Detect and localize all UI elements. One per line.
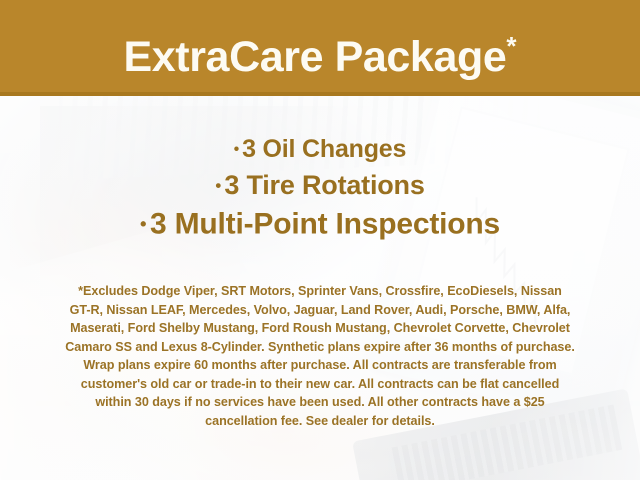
list-item-label: 3 Multi-Point Inspections [150, 207, 500, 240]
list-item: •3 Tire Rotations [0, 167, 640, 204]
disclaimer-line: Maserati, Ford Shelby Mustang, Ford Rous… [0, 319, 640, 338]
disclaimer-text: *Excludes Dodge Viper, SRT Motors, Sprin… [0, 282, 640, 430]
list-item: •3 Multi-Point Inspections [0, 204, 640, 245]
list-item: •3 Oil Changes [0, 132, 640, 167]
disclaimer-line: customer's old car or trade-in to their … [0, 375, 640, 394]
bullet-dot-icon: • [140, 213, 146, 234]
page-title: ExtraCare Package* [0, 0, 640, 92]
disclaimer-line: GT-R, Nissan LEAF, Mercedes, Volvo, Jagu… [0, 301, 640, 320]
page-title-text: ExtraCare Package [124, 33, 507, 81]
disclaimer-line: cancellation fee. See dealer for details… [0, 412, 640, 431]
disclaimer-line: within 30 days if no services have been … [0, 393, 640, 412]
disclaimer-line: *Excludes Dodge Viper, SRT Motors, Sprin… [0, 282, 640, 301]
disclaimer-line: Camaro SS and Lexus 8-Cylinder. Syntheti… [0, 338, 640, 357]
page-title-asterisk: * [506, 31, 516, 61]
disclaimer-line: Wrap plans expire 60 months after purcha… [0, 356, 640, 375]
header-band: ExtraCare Package* [0, 0, 640, 96]
list-item-label: 3 Oil Changes [242, 135, 406, 163]
bullet-dot-icon: • [234, 141, 239, 158]
list-item-label: 3 Tire Rotations [224, 170, 424, 200]
bullet-dot-icon: • [215, 176, 221, 195]
benefits-list: •3 Oil Changes •3 Tire Rotations •3 Mult… [0, 132, 640, 244]
extracare-package-banner: ExtraCare Package* •3 Oil Changes •3 Tir… [0, 0, 640, 480]
banner-content: •3 Oil Changes •3 Tire Rotations •3 Mult… [0, 96, 640, 480]
